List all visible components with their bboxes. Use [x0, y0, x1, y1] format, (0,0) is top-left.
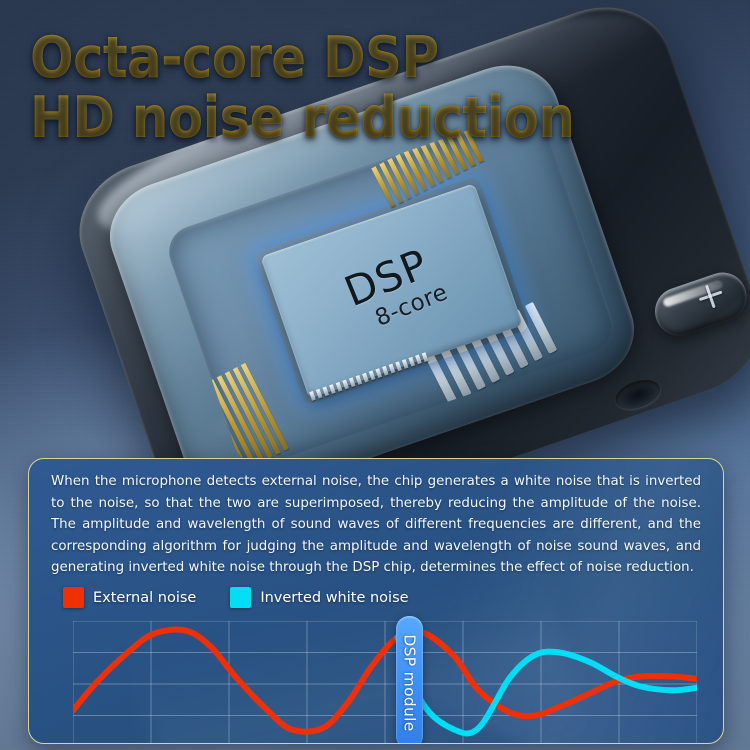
legend-label-external-noise: External noise [93, 590, 196, 606]
chip-leads-left [201, 360, 294, 471]
headline-line-1: Octa-core DSP [30, 28, 574, 88]
legend-label-inverted-white-noise: Inverted white noise [260, 590, 408, 606]
legend-item-inverted-white-noise: Inverted white noise [230, 587, 408, 608]
chart-legend: External noise Inverted white noise [63, 587, 409, 608]
product-marketing-banner: Octa-core DSP HD noise reduction [0, 0, 750, 750]
series-line-inverted-white-noise [397, 637, 697, 733]
chart-gridlines [73, 621, 697, 744]
headline: Octa-core DSP HD noise reduction [30, 28, 574, 148]
legend-item-external-noise: External noise [63, 587, 196, 608]
legend-swatch-inverted-white-noise [230, 587, 251, 608]
dsp-module-annotation-label: DSP module [401, 634, 419, 731]
description-paragraph: When the microphone detects external noi… [51, 471, 701, 579]
chart-svg [73, 621, 697, 744]
noise-cancellation-chart [73, 621, 697, 744]
headline-line-2: HD noise reduction [30, 88, 574, 148]
legend-swatch-external-noise [63, 587, 84, 608]
dsp-module-annotation: DSP module [396, 616, 423, 744]
charging-port [612, 375, 664, 415]
volume-up-button[interactable] [649, 266, 750, 342]
info-panel: When the microphone detects external noi… [28, 458, 724, 744]
